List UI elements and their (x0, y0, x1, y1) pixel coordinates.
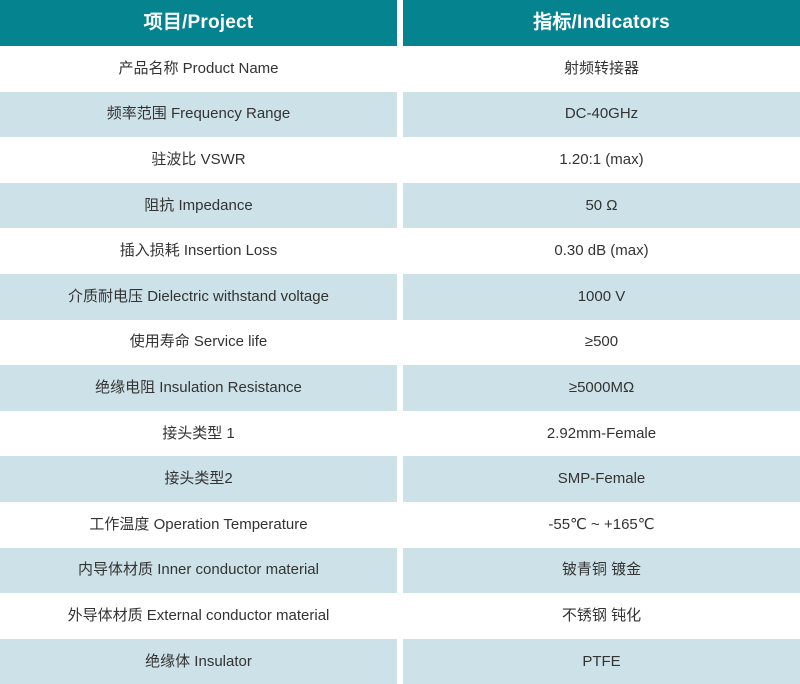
cell-indicator: PTFE (403, 639, 800, 684)
cell-project: 接头类型2 (0, 456, 397, 502)
cell-indicator: 不锈钢 钝化 (403, 593, 800, 639)
cell-indicator: SMP-Female (403, 456, 800, 502)
table-row: 外导体材质 External conductor material 不锈钢 钝化 (0, 593, 800, 639)
table-row: 接头类型 1 2.92mm-Female (0, 411, 800, 457)
cell-project: 使用寿命 Service life (0, 320, 397, 366)
cell-indicator: DC-40GHz (403, 92, 800, 138)
table-row: 插入损耗 Insertion Loss 0.30 dB (max) (0, 228, 800, 274)
cell-project: 工作温度 Operation Temperature (0, 502, 397, 548)
table-row: 驻波比 VSWR 1.20:1 (max) (0, 137, 800, 183)
cell-indicator: 1.20:1 (max) (403, 137, 800, 183)
cell-project: 阻抗 Impedance (0, 183, 397, 229)
table-row: 阻抗 Impedance 50 Ω (0, 183, 800, 229)
cell-indicator: ≥500 (403, 320, 800, 366)
cell-indicator: 1000 V (403, 274, 800, 320)
cell-indicator: ≥5000MΩ (403, 365, 800, 411)
specification-table: 项目/Project 指标/Indicators 产品名称 Product Na… (0, 0, 800, 679)
table-row: 产品名称 Product Name 射频转接器 (0, 46, 800, 92)
cell-indicator: 50 Ω (403, 183, 800, 229)
cell-project: 产品名称 Product Name (0, 46, 397, 92)
cell-indicator: 铍青铜 镀金 (403, 548, 800, 594)
column-header-indicators: 指标/Indicators (403, 0, 800, 46)
cell-indicator: 2.92mm-Female (403, 411, 800, 457)
cell-indicator: -55℃ ~ +165℃ (403, 502, 800, 548)
cell-indicator: 射频转接器 (403, 46, 800, 92)
cell-project: 驻波比 VSWR (0, 137, 397, 183)
table-row: 接头类型2 SMP-Female (0, 456, 800, 502)
table-row: 绝缘体 Insulator PTFE (0, 639, 800, 684)
table-row: 工作温度 Operation Temperature -55℃ ~ +165℃ (0, 502, 800, 548)
cell-project: 绝缘体 Insulator (0, 639, 397, 684)
table-header-row: 项目/Project 指标/Indicators (0, 0, 800, 46)
table-row: 使用寿命 Service life ≥500 (0, 320, 800, 366)
table-row: 介质耐电压 Dielectric withstand voltage 1000 … (0, 274, 800, 320)
table-row: 内导体材质 Inner conductor material 铍青铜 镀金 (0, 548, 800, 594)
cell-project: 介质耐电压 Dielectric withstand voltage (0, 274, 397, 320)
cell-project: 插入损耗 Insertion Loss (0, 228, 397, 274)
column-header-project: 项目/Project (0, 0, 397, 46)
cell-project: 绝缘电阻 Insulation Resistance (0, 365, 397, 411)
cell-project: 外导体材质 External conductor material (0, 593, 397, 639)
cell-project: 接头类型 1 (0, 411, 397, 457)
cell-project: 内导体材质 Inner conductor material (0, 548, 397, 594)
cell-indicator: 0.30 dB (max) (403, 228, 800, 274)
table-row: 频率范围 Frequency Range DC-40GHz (0, 92, 800, 138)
cell-project: 频率范围 Frequency Range (0, 92, 397, 138)
table-row: 绝缘电阻 Insulation Resistance ≥5000MΩ (0, 365, 800, 411)
